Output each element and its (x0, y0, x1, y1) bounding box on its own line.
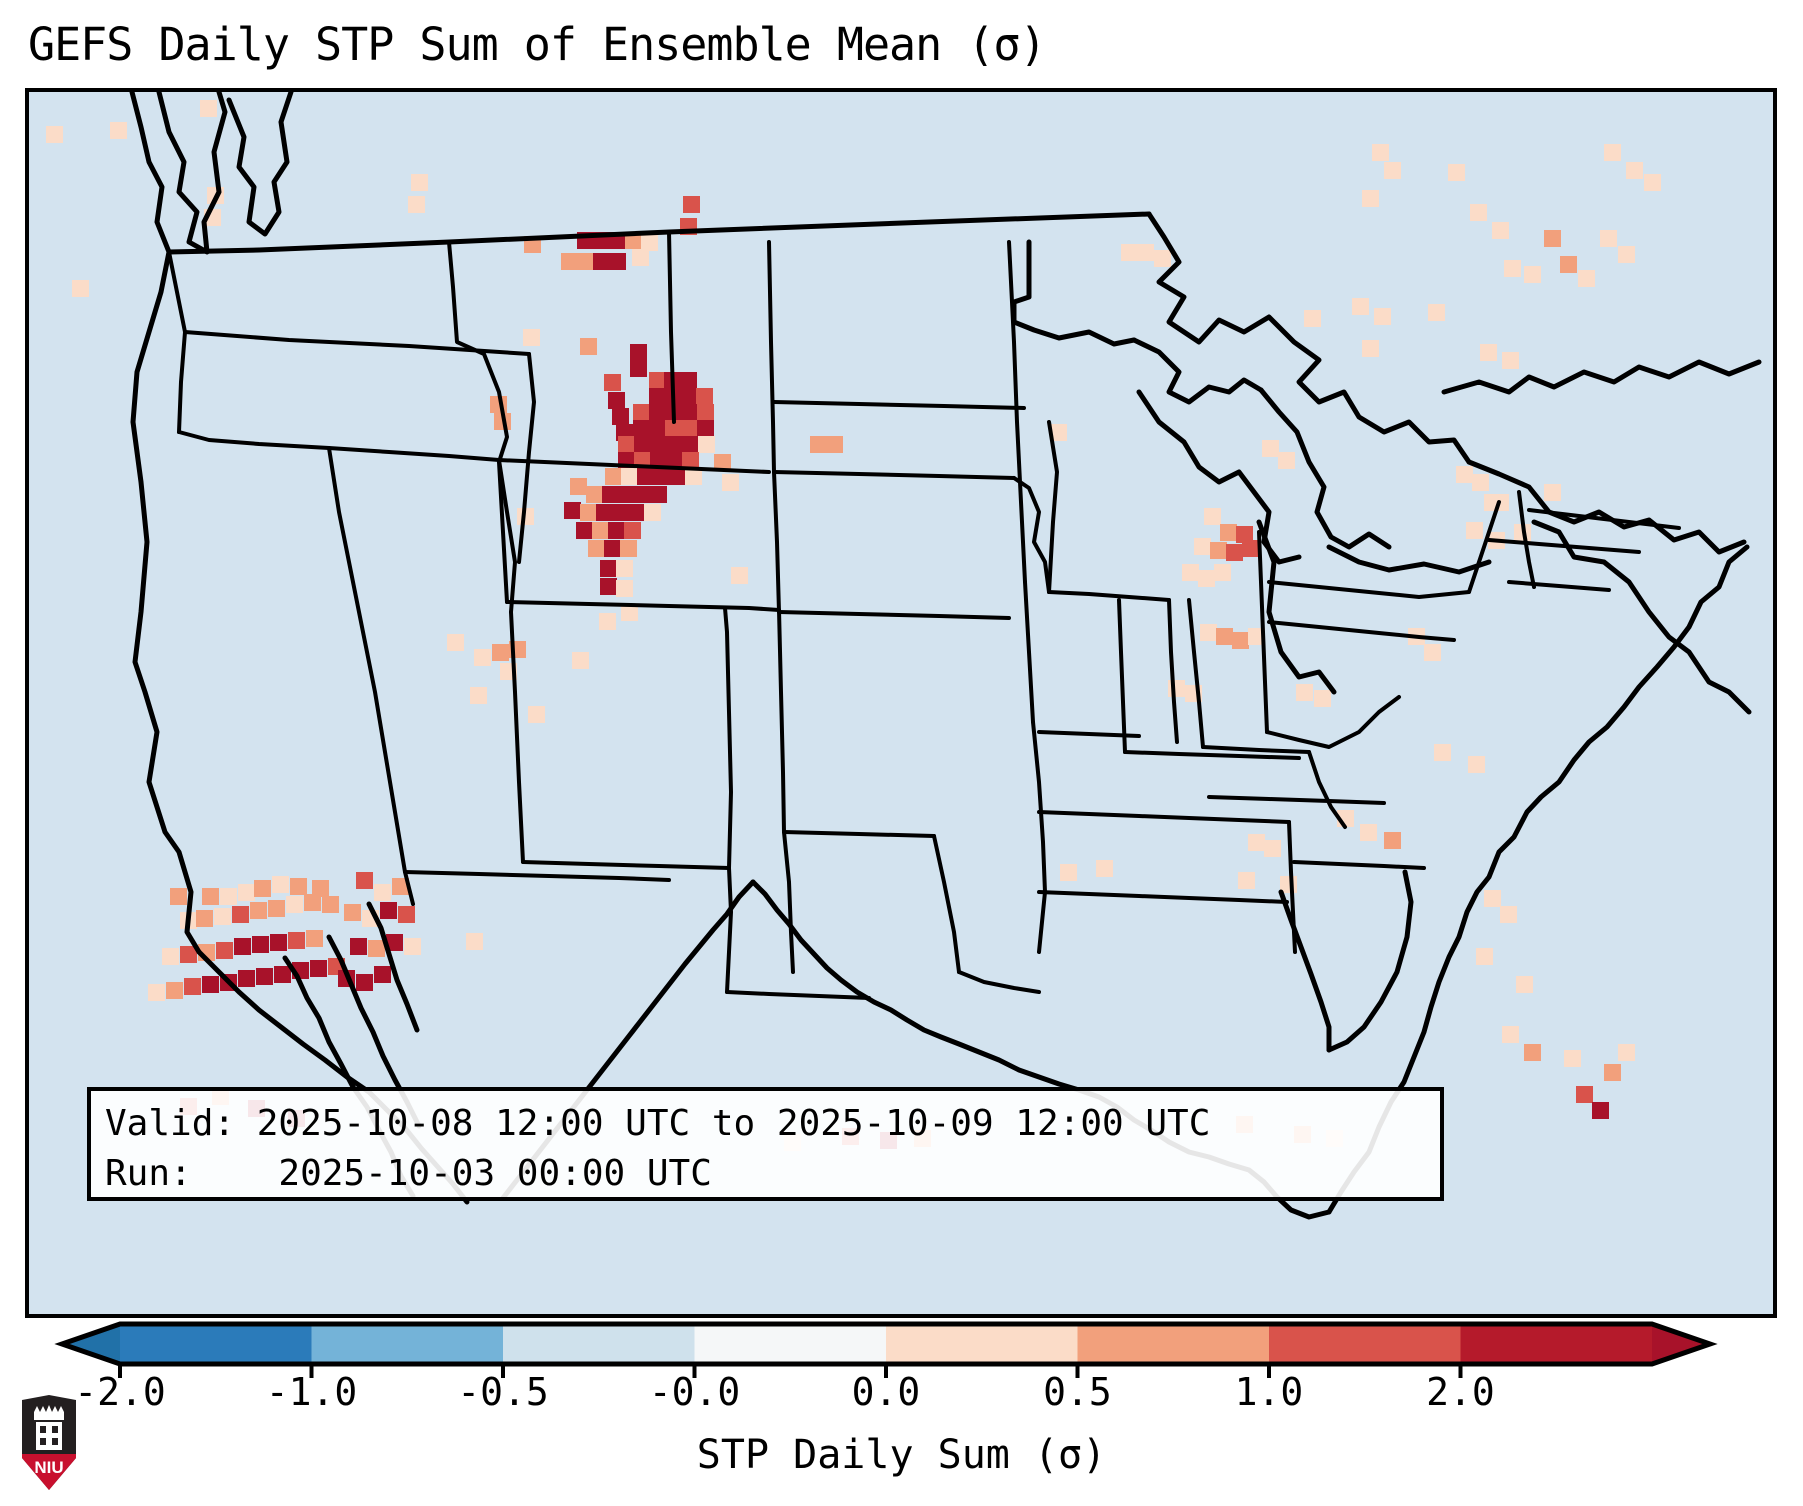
grid-cell (1502, 1026, 1519, 1043)
grid-cell (609, 253, 626, 270)
grid-cell (681, 404, 698, 421)
grid-cell (588, 540, 605, 557)
grid-cell (1502, 352, 1519, 369)
grid-cell (1374, 308, 1391, 325)
grid-cell (200, 100, 217, 117)
grid-cell (604, 540, 621, 557)
grid-cell (826, 436, 843, 453)
grid-cell (1220, 524, 1237, 541)
grid-cell (641, 234, 658, 251)
grid-cell (1238, 872, 1255, 889)
grid-cell (166, 982, 183, 999)
grid-cell (1604, 1064, 1621, 1081)
grid-cell (254, 880, 271, 897)
grid-cell (616, 560, 633, 577)
grid-cell (1232, 632, 1249, 649)
colorbar-segments (62, 1324, 1710, 1364)
grid-cell (612, 504, 629, 521)
page-title: GEFS Daily STP Sum of Ensemble Mean (σ) (28, 18, 1046, 71)
grid-cell (1214, 564, 1231, 581)
grid-cell (697, 404, 714, 421)
grid-cell (630, 344, 647, 361)
grid-cell (110, 122, 127, 139)
colorbar-axis-label: STP Daily Sum (σ) (0, 1432, 1803, 1478)
grid-cell (1456, 466, 1473, 483)
grid-cell (608, 522, 625, 539)
grid-cell (528, 706, 545, 723)
grid-cell (1352, 298, 1369, 315)
grid-cell (1434, 744, 1451, 761)
colorbar-tick-label: -1.0 (266, 1370, 358, 1414)
grid-cell (1504, 260, 1521, 277)
grid-cell (148, 984, 165, 1001)
grid-cell (216, 942, 233, 959)
colorbar-tick-labels: -2.0-1.0-0.5-0.00.00.51.02.0 (0, 1370, 1803, 1430)
colorbar-tick-label: 1.0 (1235, 1370, 1304, 1414)
grid-cell (46, 126, 63, 143)
grid-cell (680, 372, 697, 389)
grid-cell (356, 872, 373, 889)
grid-cell (624, 522, 641, 539)
grid-cell (681, 420, 698, 437)
grid-cell (618, 436, 635, 453)
grid-cell (252, 936, 269, 953)
grid-cell (698, 436, 715, 453)
grid-cell (1278, 452, 1295, 469)
colorbar-segment (1461, 1324, 1653, 1364)
grid-cell (599, 613, 616, 630)
grid-cell (1226, 544, 1243, 561)
grid-cell (492, 644, 509, 661)
grid-cell (408, 196, 425, 213)
grid-cell (380, 902, 397, 919)
grid-cell (592, 522, 609, 539)
grid-cell (1137, 244, 1154, 261)
grid-cell (1618, 1044, 1635, 1061)
grid-cell (1428, 304, 1445, 321)
grid-cell (682, 436, 699, 453)
grid-cell (576, 522, 593, 539)
grid-cell (649, 388, 666, 405)
grid-cell (644, 504, 661, 521)
grid-cell (1470, 204, 1487, 221)
grid-cell (1480, 344, 1497, 361)
grid-cell (322, 896, 339, 913)
grid-cell (374, 966, 391, 983)
grid-cell (162, 948, 179, 965)
grid-cell (669, 468, 686, 485)
grid-cell (1168, 680, 1185, 697)
grid-cell (1600, 230, 1617, 247)
grid-cell (634, 486, 651, 503)
grid-cell (196, 910, 213, 927)
grid-cell (1626, 162, 1643, 179)
grid-cell (268, 900, 285, 917)
grid-cell (184, 978, 201, 995)
grid-cell (1242, 540, 1259, 557)
grid-cell (1604, 144, 1621, 161)
niu-castle-body (36, 1422, 62, 1450)
grid-cell (634, 436, 651, 453)
grid-cell (1362, 340, 1379, 357)
map-panel[interactable]: Valid: 2025-10-08 12:00 UTC to 2025-10-0… (25, 88, 1777, 1318)
grid-cell (310, 960, 327, 977)
grid-cell (722, 474, 739, 491)
grid-cell (404, 938, 421, 955)
grid-cell (620, 540, 637, 557)
grid-cell (596, 504, 613, 521)
grid-cell (350, 938, 367, 955)
grid-cell (1216, 628, 1233, 645)
grid-cell (1492, 222, 1509, 239)
grid-cell (630, 360, 647, 377)
grid-cell (608, 392, 625, 409)
grid-cell (1544, 484, 1561, 501)
grid-cell (1248, 834, 1265, 851)
grid-cell (633, 404, 650, 421)
grid-cell (650, 486, 667, 503)
grid-cell (234, 938, 251, 955)
grid-cell (470, 687, 487, 704)
grid-cell (564, 502, 581, 519)
grid-cell (1466, 522, 1483, 539)
grid-cell (1314, 690, 1331, 707)
grid-cell (680, 388, 697, 405)
colorbar-segment (886, 1324, 1078, 1364)
grid-cell (1524, 266, 1541, 283)
grid-cell (304, 894, 321, 911)
grid-cell (653, 468, 670, 485)
grid-cell (616, 580, 633, 597)
colorbar-segment (312, 1324, 504, 1364)
colorbar[interactable] (0, 1318, 1803, 1378)
grid-cell (466, 933, 483, 950)
grid-cell (1578, 270, 1595, 287)
grid-cell (1472, 474, 1489, 491)
grid-cell (649, 420, 666, 437)
grid-cell (1468, 756, 1485, 773)
colorbar-tick-label: -0.0 (649, 1370, 741, 1414)
grid-cell (1198, 570, 1215, 587)
colorbar-segment (1078, 1324, 1270, 1364)
grid-cell (1204, 508, 1221, 525)
grid-cell (810, 436, 827, 453)
grid-cell (1304, 310, 1321, 327)
grid-cell (1210, 542, 1227, 559)
valid-time-text: Valid: 2025-10-08 12:00 UTC to 2025-10-0… (105, 1099, 1426, 1149)
niu-wordmark: NIU (34, 1458, 63, 1477)
grid-cell (1384, 162, 1401, 179)
grid-cell (523, 329, 540, 346)
grid-cell (270, 934, 287, 951)
grid-cell (356, 974, 373, 991)
grid-cell (649, 404, 666, 421)
grid-cell (605, 468, 622, 485)
grid-cell (593, 253, 610, 270)
grid-cell (600, 578, 617, 595)
grid-cell (214, 908, 231, 925)
grid-cell (1424, 644, 1441, 661)
grid-cell (561, 253, 578, 270)
grid-cell (274, 966, 291, 983)
grid-cell (586, 486, 603, 503)
grid-cell (202, 976, 219, 993)
colorbar-svg (0, 1318, 1803, 1378)
grid-cell (1524, 1044, 1541, 1061)
colorbar-over-arrow (1652, 1324, 1710, 1364)
grid-cell (1618, 246, 1635, 263)
grid-cell (368, 940, 385, 957)
grid-cell (1262, 440, 1279, 457)
grid-cell (1182, 564, 1199, 581)
grid-cell (238, 970, 255, 987)
grid-cell (1264, 840, 1281, 857)
grid-cell (1500, 906, 1517, 923)
grid-cell (1096, 860, 1113, 877)
run-time-text: Run: 2025-10-03 00:00 UTC (105, 1149, 1426, 1199)
colorbar-segment (120, 1324, 312, 1364)
grid-cell (398, 906, 415, 923)
grid-cell (1372, 144, 1389, 161)
grid-cell (731, 567, 748, 584)
grid-cell (286, 896, 303, 913)
grid-cell (628, 504, 645, 521)
grid-cell (447, 634, 464, 651)
annotation-box: Valid: 2025-10-08 12:00 UTC to 2025-10-0… (87, 1087, 1444, 1201)
grid-cell (1362, 190, 1379, 207)
grid-cell (570, 478, 587, 495)
grid-cell (1154, 250, 1171, 267)
colorbar-segment (1269, 1324, 1461, 1364)
grid-cell (306, 930, 323, 947)
grid-cell (633, 420, 650, 437)
grid-cell (1644, 174, 1661, 191)
grid-cell (288, 932, 305, 949)
colorbar-tick-label: -2.0 (74, 1370, 166, 1414)
grid-cell (618, 486, 635, 503)
grid-cell (580, 504, 597, 521)
grid-cell (683, 196, 700, 213)
grid-cell (1516, 976, 1533, 993)
grid-cell (1194, 538, 1211, 555)
grid-cell (1592, 1102, 1609, 1119)
grid-cell (1544, 230, 1561, 247)
grid-cell (256, 968, 273, 985)
grid-cell (1200, 624, 1217, 641)
grid-cell (1121, 244, 1138, 261)
grid-cell (250, 902, 267, 919)
grid-cell (600, 560, 617, 577)
grid-cell (344, 904, 361, 921)
colorbar-tick-label: -0.5 (457, 1370, 549, 1414)
grid-cell (290, 878, 307, 895)
colorbar-tick-label: 2.0 (1426, 1370, 1495, 1414)
figure-root: GEFS Daily STP Sum of Ensemble Mean (σ) (0, 0, 1803, 1506)
grid-cell (374, 884, 391, 901)
grid-cell (612, 408, 629, 425)
colorbar-tick-label: 0.0 (852, 1370, 921, 1414)
grid-cell (411, 174, 428, 191)
grid-cell (1560, 256, 1577, 273)
grid-cell (1476, 948, 1493, 965)
grid-cell (1576, 1086, 1593, 1103)
colorbar-tick-label: 0.5 (1043, 1370, 1112, 1414)
grid-cell (666, 436, 683, 453)
grid-cell (170, 888, 187, 905)
grid-cell (604, 374, 621, 391)
grid-cell (1484, 890, 1501, 907)
grid-cell (637, 468, 654, 485)
colorbar-under-arrow (62, 1324, 120, 1364)
grid-cell (1564, 1050, 1581, 1067)
grid-cell (580, 338, 597, 355)
grid-cell (220, 888, 237, 905)
grid-cell (72, 280, 89, 297)
grid-cell (232, 906, 249, 923)
grid-cell (1360, 824, 1377, 841)
grid-cell (697, 420, 714, 437)
grid-cell (202, 888, 219, 905)
colorbar-segment (695, 1324, 887, 1364)
grid-cell (621, 468, 638, 485)
grid-cell (238, 884, 255, 901)
grid-cell (272, 876, 289, 893)
grid-cell (602, 486, 619, 503)
grid-cell (632, 249, 649, 266)
grid-cell (572, 652, 589, 669)
niu-logo[interactable]: NIU (18, 1394, 80, 1492)
grid-cell (577, 253, 594, 270)
colorbar-segment (503, 1324, 695, 1364)
grid-cell (649, 372, 666, 389)
grid-cell (650, 436, 667, 453)
grid-cell (1060, 864, 1077, 881)
grid-cell (1448, 164, 1465, 181)
grid-cell (696, 388, 713, 405)
grid-cell (474, 649, 491, 666)
grid-cell (1384, 832, 1401, 849)
grid-cell (1296, 684, 1313, 701)
